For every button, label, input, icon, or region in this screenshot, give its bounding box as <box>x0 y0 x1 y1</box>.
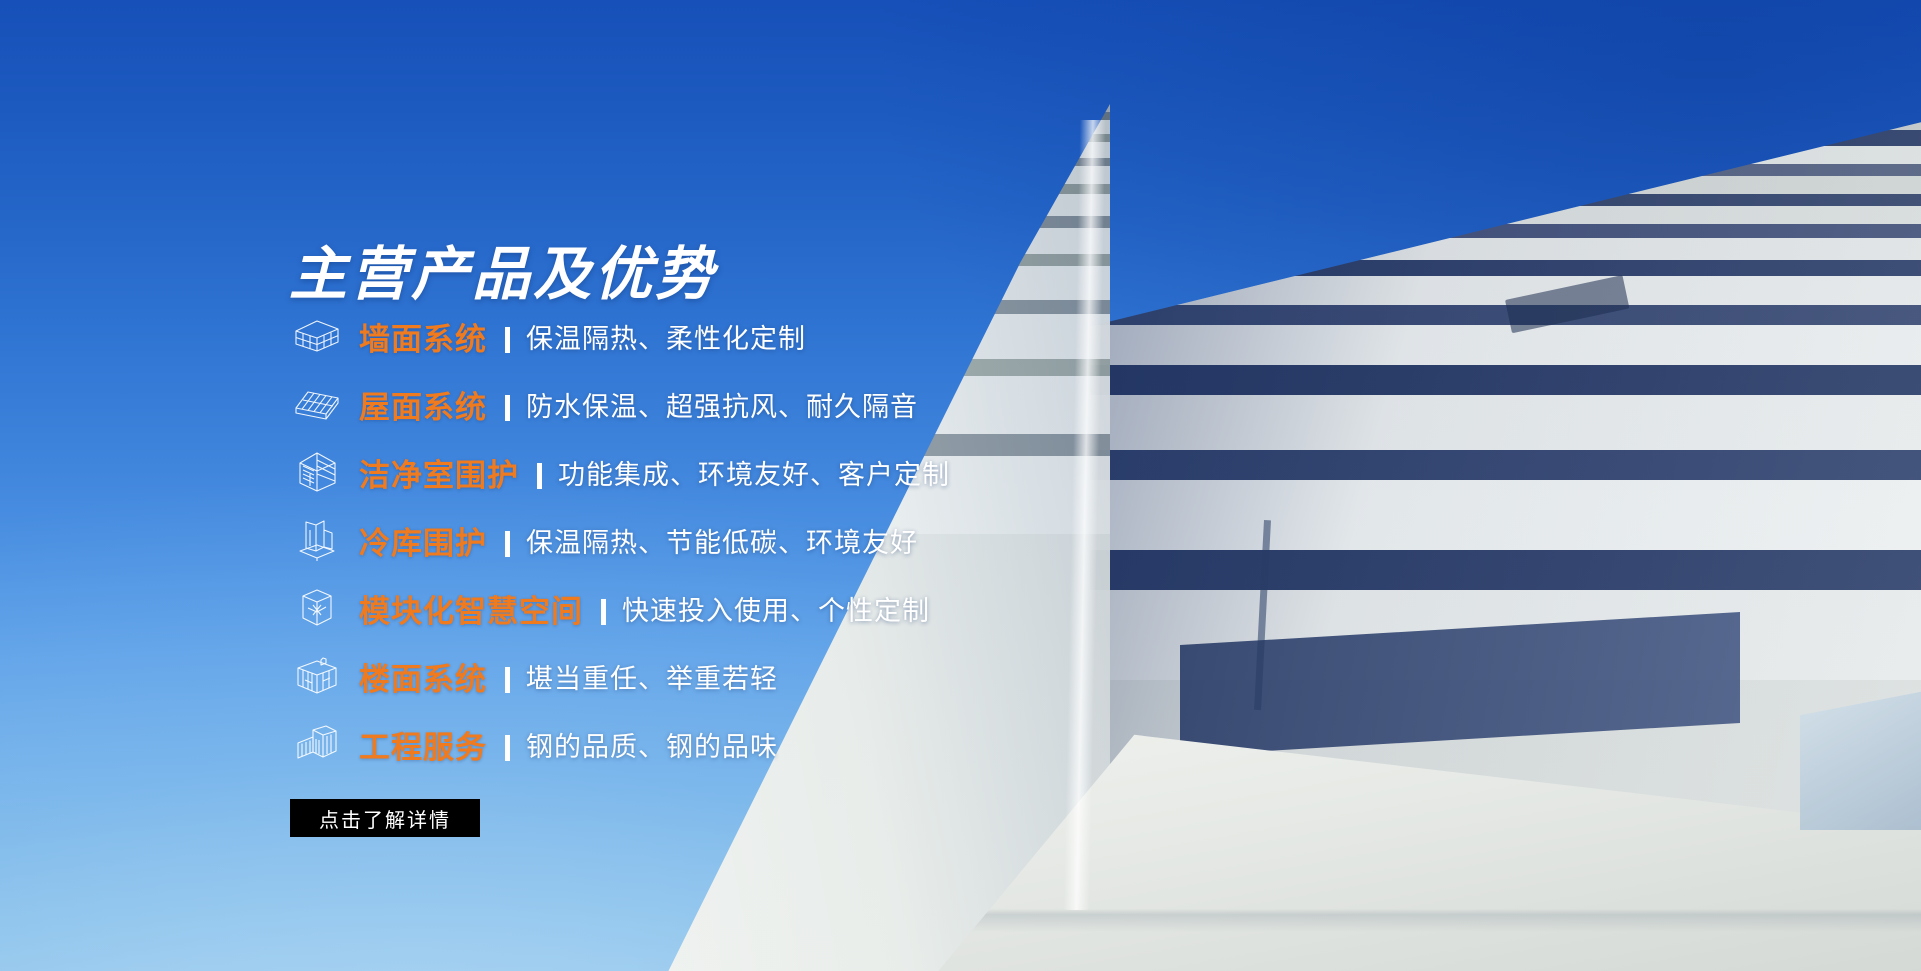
separator-bar <box>505 531 510 557</box>
product-desc: 快速投入使用、个性定制 <box>622 589 930 628</box>
promo-banner: 主营产品及优势 墙面系统 <box>0 0 1921 971</box>
separator-bar <box>537 463 542 489</box>
cleanroom-building-icon <box>289 448 345 496</box>
modular-cube-icon <box>289 584 345 632</box>
learn-more-button[interactable]: 点击了解详情 <box>290 799 480 837</box>
list-item[interactable]: 冷库围护 保温隔热、节能低碳、环境友好 <box>289 506 1149 574</box>
wall-panel-icon <box>289 312 345 360</box>
product-name: 墙面系统 <box>359 314 487 359</box>
page-title: 主营产品及优势 <box>289 245 716 303</box>
list-item[interactable]: 楼面系统 堪当重任、举重若轻 <box>289 642 1149 710</box>
separator-bar <box>505 735 510 761</box>
list-item[interactable]: 模块化智慧空间 快速投入使用、个性定制 <box>289 574 1149 642</box>
product-desc: 堪当重任、举重若轻 <box>526 657 778 696</box>
product-name: 冷库围护 <box>359 518 487 563</box>
separator-bar <box>601 599 606 625</box>
product-desc: 防水保温、超强抗风、耐久隔音 <box>526 385 918 424</box>
engineering-service-icon <box>289 720 345 768</box>
list-item[interactable]: 洁净室围护 功能集成、环境友好、客户定制 <box>289 438 1149 506</box>
separator-bar <box>505 327 510 353</box>
product-desc: 保温隔热、节能低碳、环境友好 <box>526 521 918 560</box>
cold-storage-icon <box>289 516 345 564</box>
roof-panel-icon <box>289 380 345 428</box>
separator-bar <box>505 395 510 421</box>
floor-system-icon <box>289 652 345 700</box>
product-desc: 钢的品质、钢的品味 <box>526 725 778 764</box>
product-list: 墙面系统 保温隔热、柔性化定制 <box>289 302 1149 778</box>
product-desc: 保温隔热、柔性化定制 <box>526 317 806 356</box>
list-item[interactable]: 屋面系统 防水保温、超强抗风、耐久隔音 <box>289 370 1149 438</box>
product-name: 模块化智慧空间 <box>359 586 583 631</box>
product-name: 屋面系统 <box>359 382 487 427</box>
product-name: 楼面系统 <box>359 654 487 699</box>
list-item[interactable]: 工程服务 钢的品质、钢的品味 <box>289 710 1149 778</box>
product-desc: 功能集成、环境友好、客户定制 <box>558 453 950 492</box>
list-item[interactable]: 墙面系统 保温隔热、柔性化定制 <box>289 302 1149 370</box>
separator-bar <box>505 667 510 693</box>
product-name: 工程服务 <box>359 722 487 767</box>
product-name: 洁净室围护 <box>359 450 519 495</box>
